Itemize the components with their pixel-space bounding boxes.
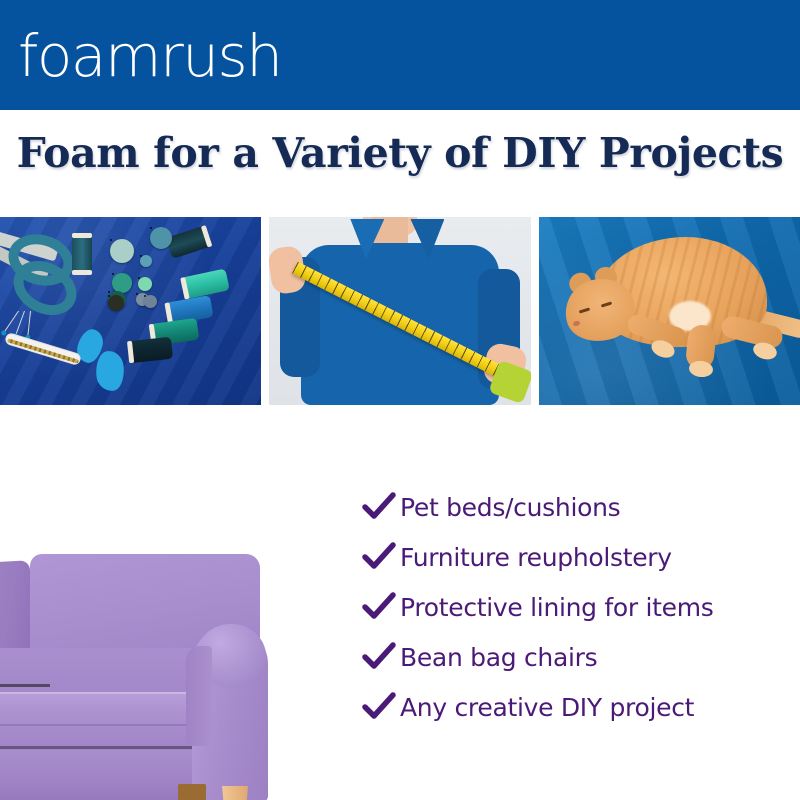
button (144, 295, 157, 308)
button (112, 273, 132, 293)
list-item[interactable]: Pet beds/cushions (362, 482, 792, 532)
thread-spool (72, 233, 92, 275)
checkmark-icon (362, 542, 400, 572)
promo-graphic: foamrush Foam for a Variety of DIY Proje… (0, 0, 800, 800)
sofa-seam (0, 746, 220, 749)
photo-strip (0, 217, 800, 405)
button (110, 239, 134, 263)
checkmark-icon (362, 592, 400, 622)
list-item-label: Protective lining for items (400, 593, 714, 622)
list-item-label: Any creative DIY project (400, 693, 694, 722)
button (108, 295, 124, 311)
list-item-label: Furniture reupholstery (400, 543, 672, 572)
button (138, 277, 152, 291)
list-item[interactable]: Any creative DIY project (362, 682, 792, 732)
list-item[interactable]: Bean bag chairs (362, 632, 792, 682)
sofa-seam (0, 684, 50, 687)
button (140, 255, 152, 267)
checkmark-icon (362, 692, 400, 722)
list-item-label: Bean bag chairs (400, 643, 597, 672)
checkmark-icon (362, 492, 400, 522)
sofa-leg (222, 786, 248, 800)
checkmark-icon (362, 642, 400, 672)
list-item-label: Pet beds/cushions (400, 493, 620, 522)
page-title: Foam for a Variety of DIY Projects (0, 124, 800, 182)
sewing-supplies-photo (0, 217, 261, 405)
list-item[interactable]: Protective lining for items (362, 582, 792, 632)
sofa-arm-inner-panel (186, 646, 212, 746)
brand-logo[interactable]: foamrush (18, 22, 282, 90)
button (150, 227, 172, 249)
cat-bean-bag-photo (539, 217, 800, 405)
lavender-sofa-illustration (0, 528, 310, 800)
brand-header: foamrush (0, 0, 800, 110)
tape-measure-photo (269, 217, 530, 405)
feature-list: Pet beds/cushions Furniture reupholstery… (362, 482, 792, 732)
thread-spool (127, 337, 173, 363)
sofa-leg (178, 784, 206, 800)
list-item[interactable]: Furniture reupholstery (362, 532, 792, 582)
